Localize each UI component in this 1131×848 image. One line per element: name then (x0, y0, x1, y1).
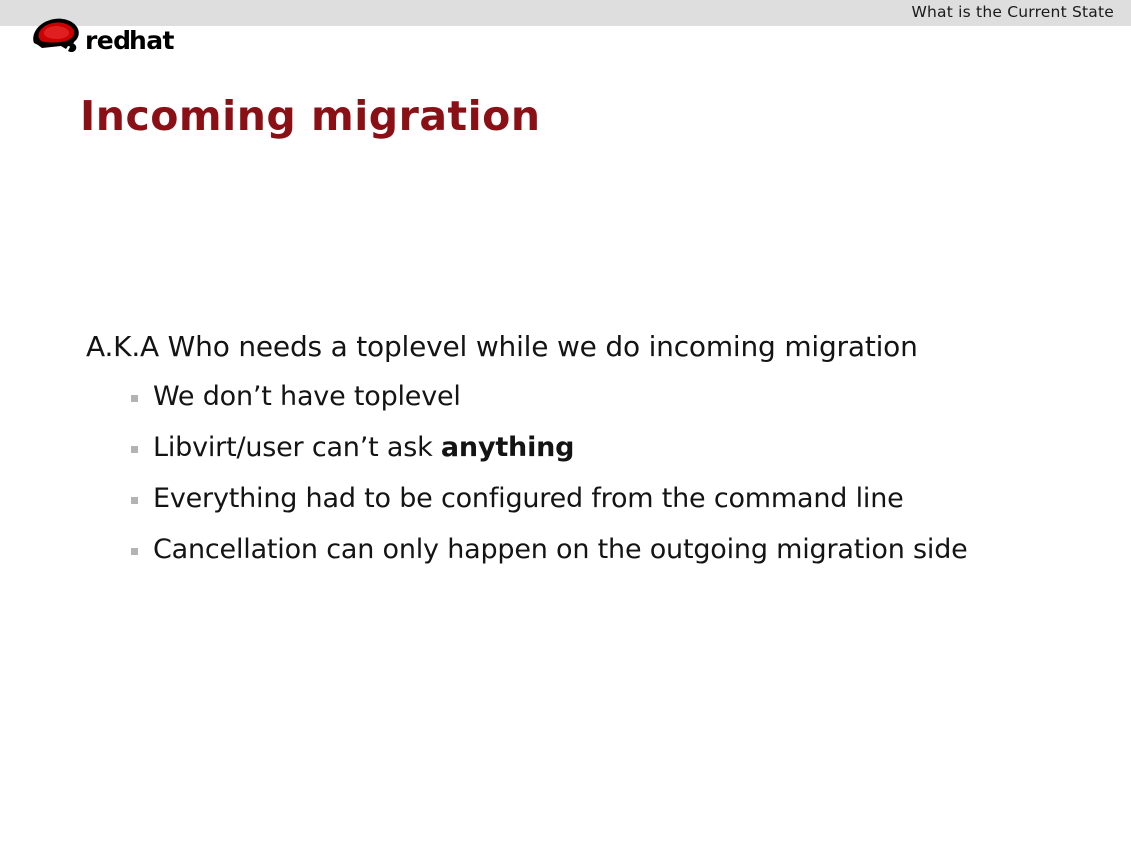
slide-body: A.K.A Who needs a toplevel while we do i… (0, 327, 1131, 581)
bullet-item-3: Everything had to be configured from the… (131, 479, 1131, 519)
bullet-marker-icon (131, 548, 138, 555)
bullet-label-emphasis: anything (441, 432, 574, 463)
bullet-marker-icon (131, 446, 138, 453)
bullet-list: We don’t have toplevel Libvirt/user can’… (0, 377, 1131, 570)
slide-lead-line: A.K.A Who needs a toplevel while we do i… (86, 327, 1131, 367)
bullet-item-1: We don’t have toplevel (131, 377, 1131, 417)
svg-text:hat: hat (129, 26, 174, 55)
section-title: What is the Current State (912, 0, 1115, 26)
svg-text:red: red (85, 26, 130, 55)
bullet-item-2: Libvirt/user can’t ask anything (131, 428, 1131, 468)
redhat-shadowman-icon: red hat (28, 13, 188, 55)
bullet-marker-icon (131, 395, 138, 402)
bullet-label: We don’t have toplevel (153, 381, 461, 412)
bullet-label: Everything had to be configured from the… (153, 483, 904, 514)
slide-title: Incoming migration (80, 92, 541, 140)
bullet-label-prefix: Libvirt/user can’t ask (153, 432, 441, 463)
bullet-marker-icon (131, 497, 138, 504)
bullet-label: Cancellation can only happen on the outg… (153, 534, 968, 565)
redhat-logo: red hat (28, 13, 188, 55)
bullet-item-4: Cancellation can only happen on the outg… (131, 530, 1131, 570)
